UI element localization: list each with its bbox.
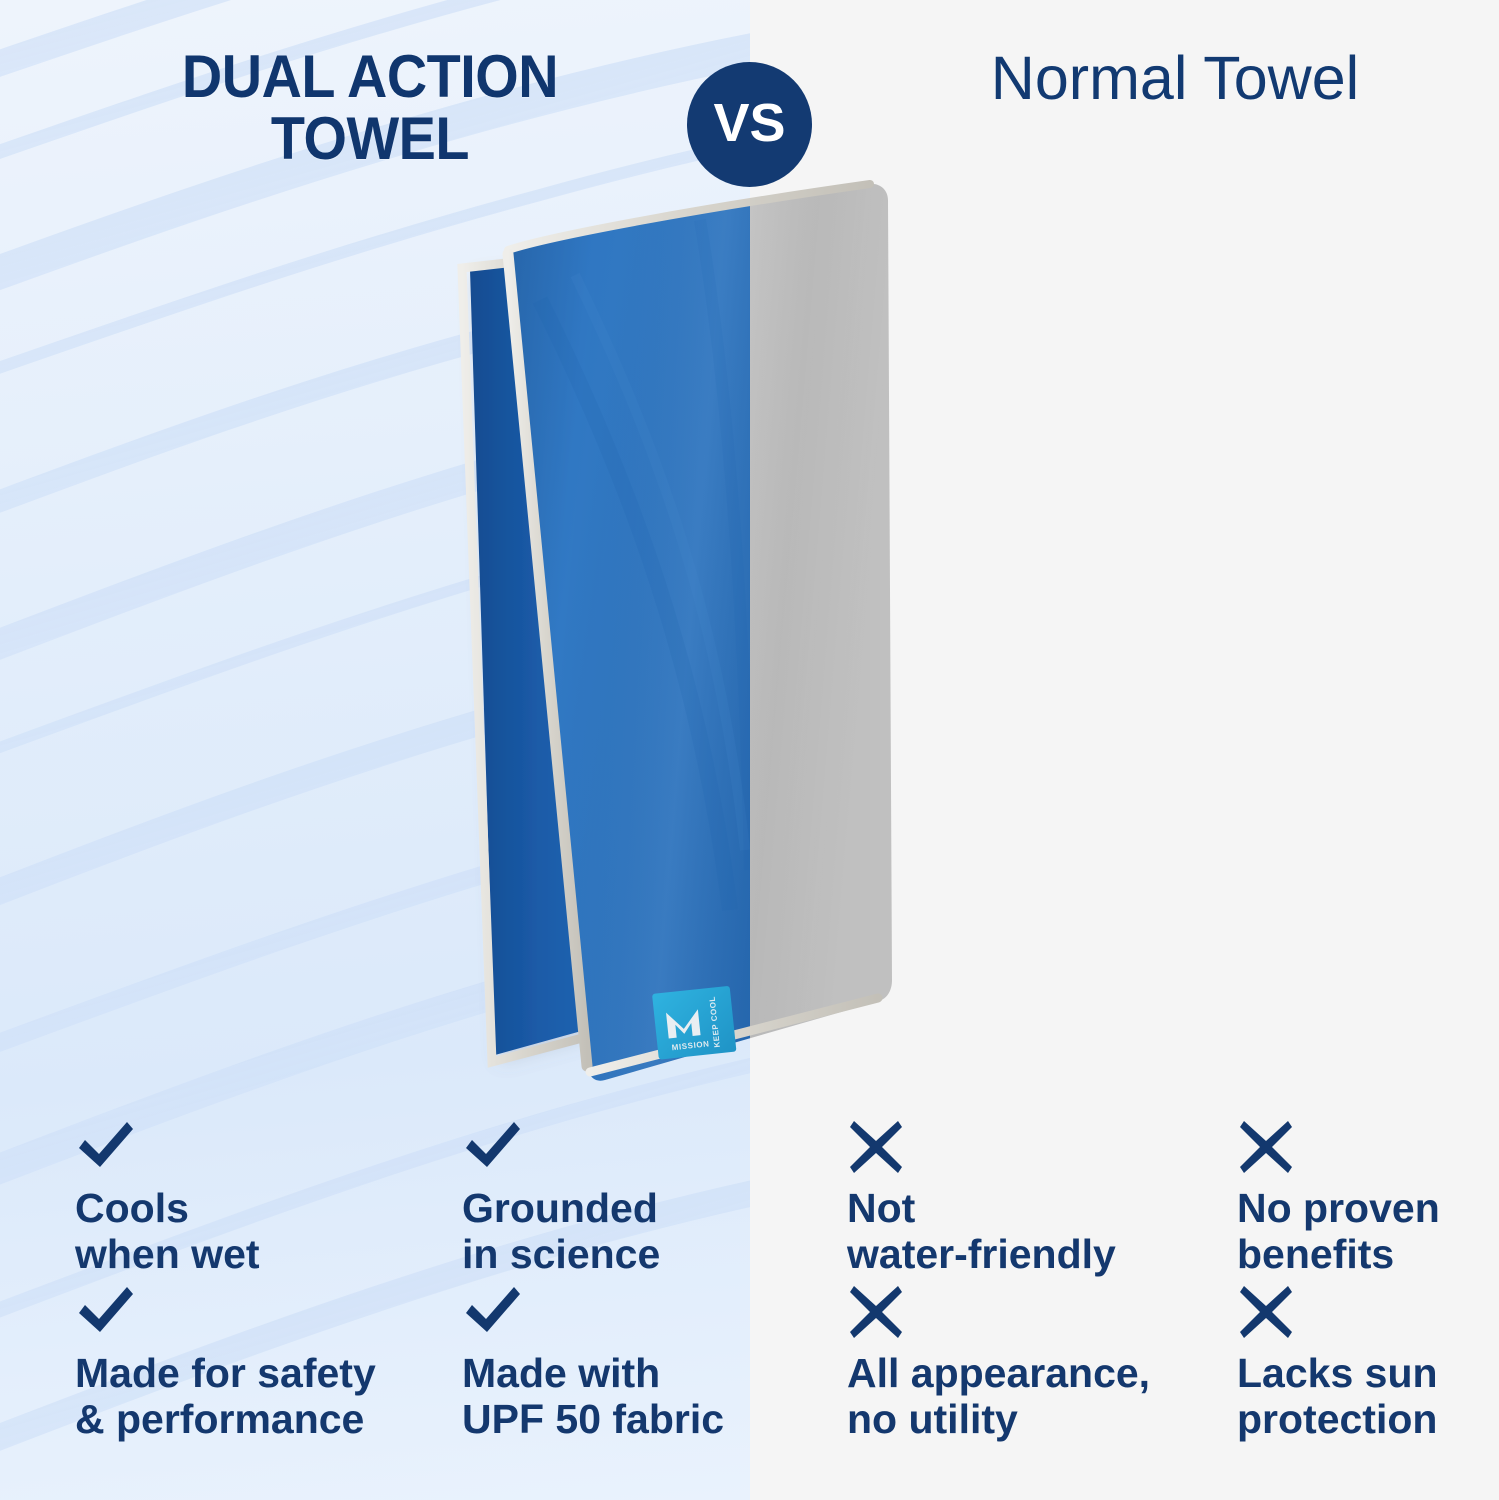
check-icon — [462, 1283, 822, 1341]
feature-comparison-grid: Cools when wet Grounded in science Not w… — [0, 1118, 1499, 1500]
cross-icon — [847, 1118, 1207, 1176]
cross-icon — [1237, 1118, 1499, 1176]
versus-badge: VS — [687, 62, 812, 187]
feature-label: Cools when wet — [75, 1186, 435, 1278]
feature-item-no-proven-benefits: No proven benefits — [1237, 1118, 1499, 1278]
feature-item-grounded-in-science: Grounded in science — [462, 1118, 822, 1278]
cross-icon — [847, 1283, 1207, 1341]
versus-label: VS — [713, 92, 785, 154]
feature-label: Grounded in science — [462, 1186, 822, 1278]
feature-item-lacks-sun-protection: Lacks sun protection — [1237, 1283, 1499, 1443]
cross-icon — [1237, 1283, 1499, 1341]
check-icon — [462, 1118, 822, 1176]
feature-label: Not water-friendly — [847, 1186, 1207, 1278]
page-title-normal-towel: Normal Towel — [955, 46, 1395, 111]
feature-item-not-water-friendly: Not water-friendly — [847, 1118, 1207, 1278]
check-icon — [75, 1283, 435, 1341]
check-icon — [75, 1118, 435, 1176]
feature-label: All appearance, no utility — [847, 1351, 1207, 1443]
feature-item-made-for-safety: Made for safety & performance — [75, 1283, 435, 1443]
feature-item-made-with-upf-50: Made with UPF 50 fabric — [462, 1283, 822, 1443]
feature-item-cools-when-wet: Cools when wet — [75, 1118, 435, 1278]
feature-label: Made for safety & performance — [75, 1351, 435, 1443]
brand-tag: MISSION KEEP COOL — [652, 986, 736, 1060]
feature-item-all-appearance-no-utility: All appearance, no utility — [847, 1283, 1207, 1443]
feature-label: Made with UPF 50 fabric — [462, 1351, 822, 1443]
feature-label: Lacks sun protection — [1237, 1351, 1499, 1443]
towel-product-image: MISSION KEEP COOL — [400, 150, 1100, 1110]
product-comparison-infographic: DUAL ACTION TOWEL Normal Towel — [0, 0, 1499, 1500]
feature-label: No proven benefits — [1237, 1186, 1499, 1278]
